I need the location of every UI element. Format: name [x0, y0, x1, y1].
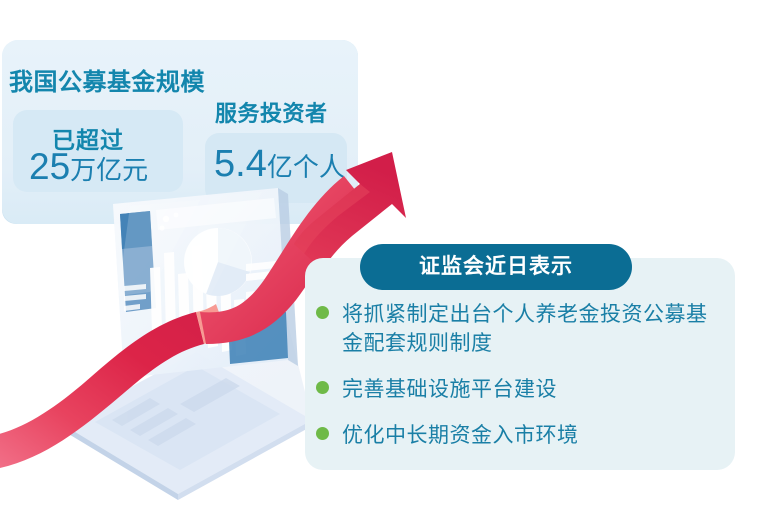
infographic-canvas: 我国公募基金规模 已超过 25万亿元 服务投资者 5.4亿个人	[0, 0, 768, 517]
bullet-text: 将抓紧制定出台个人养老金投资公募基金配套规则制度	[342, 300, 714, 358]
bullet-text: 优化中长期资金入市环境	[342, 421, 579, 450]
bullet-dot-icon	[316, 381, 329, 394]
statement-header-label: 证监会近日表示	[360, 244, 632, 290]
bullet-dot-icon	[316, 306, 329, 319]
bullet-item: 将抓紧制定出台个人养老金投资公募基金配套规则制度	[316, 300, 726, 358]
bullet-dot-icon	[316, 427, 329, 440]
statement-bullet-list: 将抓紧制定出台个人养老金投资公募基金配套规则制度 完善基础设施平台建设 优化中长…	[316, 300, 726, 467]
bullet-item: 完善基础设施平台建设	[316, 375, 726, 404]
bullet-text: 完善基础设施平台建设	[342, 375, 557, 404]
bullet-item: 优化中长期资金入市环境	[316, 421, 726, 450]
right-panel-layer: 证监会近日表示 将抓紧制定出台个人养老金投资公募基金配套规则制度 完善基础设施平…	[0, 0, 768, 517]
